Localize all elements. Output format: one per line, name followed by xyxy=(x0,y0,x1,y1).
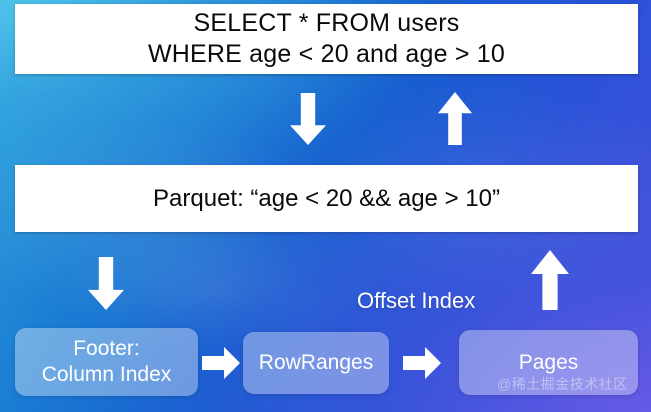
arrow-up-icon-pages-to-parquet xyxy=(531,250,569,310)
node-footer-line-1: Footer: xyxy=(73,336,140,362)
arrow-down-icon-query-to-parquet xyxy=(290,93,326,145)
parquet-predicate-panel: Parquet: “age < 20 && age > 10” xyxy=(15,165,638,232)
diagram-canvas: SELECT * FROM users WHERE age < 20 and a… xyxy=(0,0,651,412)
sql-query-panel: SELECT * FROM users WHERE age < 20 and a… xyxy=(15,4,638,74)
arrow-up-icon-parquet-to-query xyxy=(438,92,472,145)
node-footer-column-index: Footer: Column Index xyxy=(15,328,198,396)
offset-index-label: Offset Index xyxy=(357,288,475,314)
arrow-right-icon-footer-to-rowranges xyxy=(202,347,240,379)
arrow-right-icon-rowranges-to-pages xyxy=(403,347,441,379)
sql-query-line-2: WHERE age < 20 and age > 10 xyxy=(148,39,505,70)
node-rowranges: RowRanges xyxy=(243,332,389,394)
node-pages-label: Pages xyxy=(519,350,579,376)
arrow-down-icon-parquet-to-footer xyxy=(88,257,124,310)
node-footer-line-2: Column Index xyxy=(42,362,172,388)
parquet-predicate-text: Parquet: “age < 20 && age > 10” xyxy=(153,184,500,214)
node-rowranges-label: RowRanges xyxy=(259,350,373,376)
watermark: @稀土掘金技术社区 xyxy=(497,375,628,393)
sql-query-line-1: SELECT * FROM users xyxy=(194,8,460,39)
